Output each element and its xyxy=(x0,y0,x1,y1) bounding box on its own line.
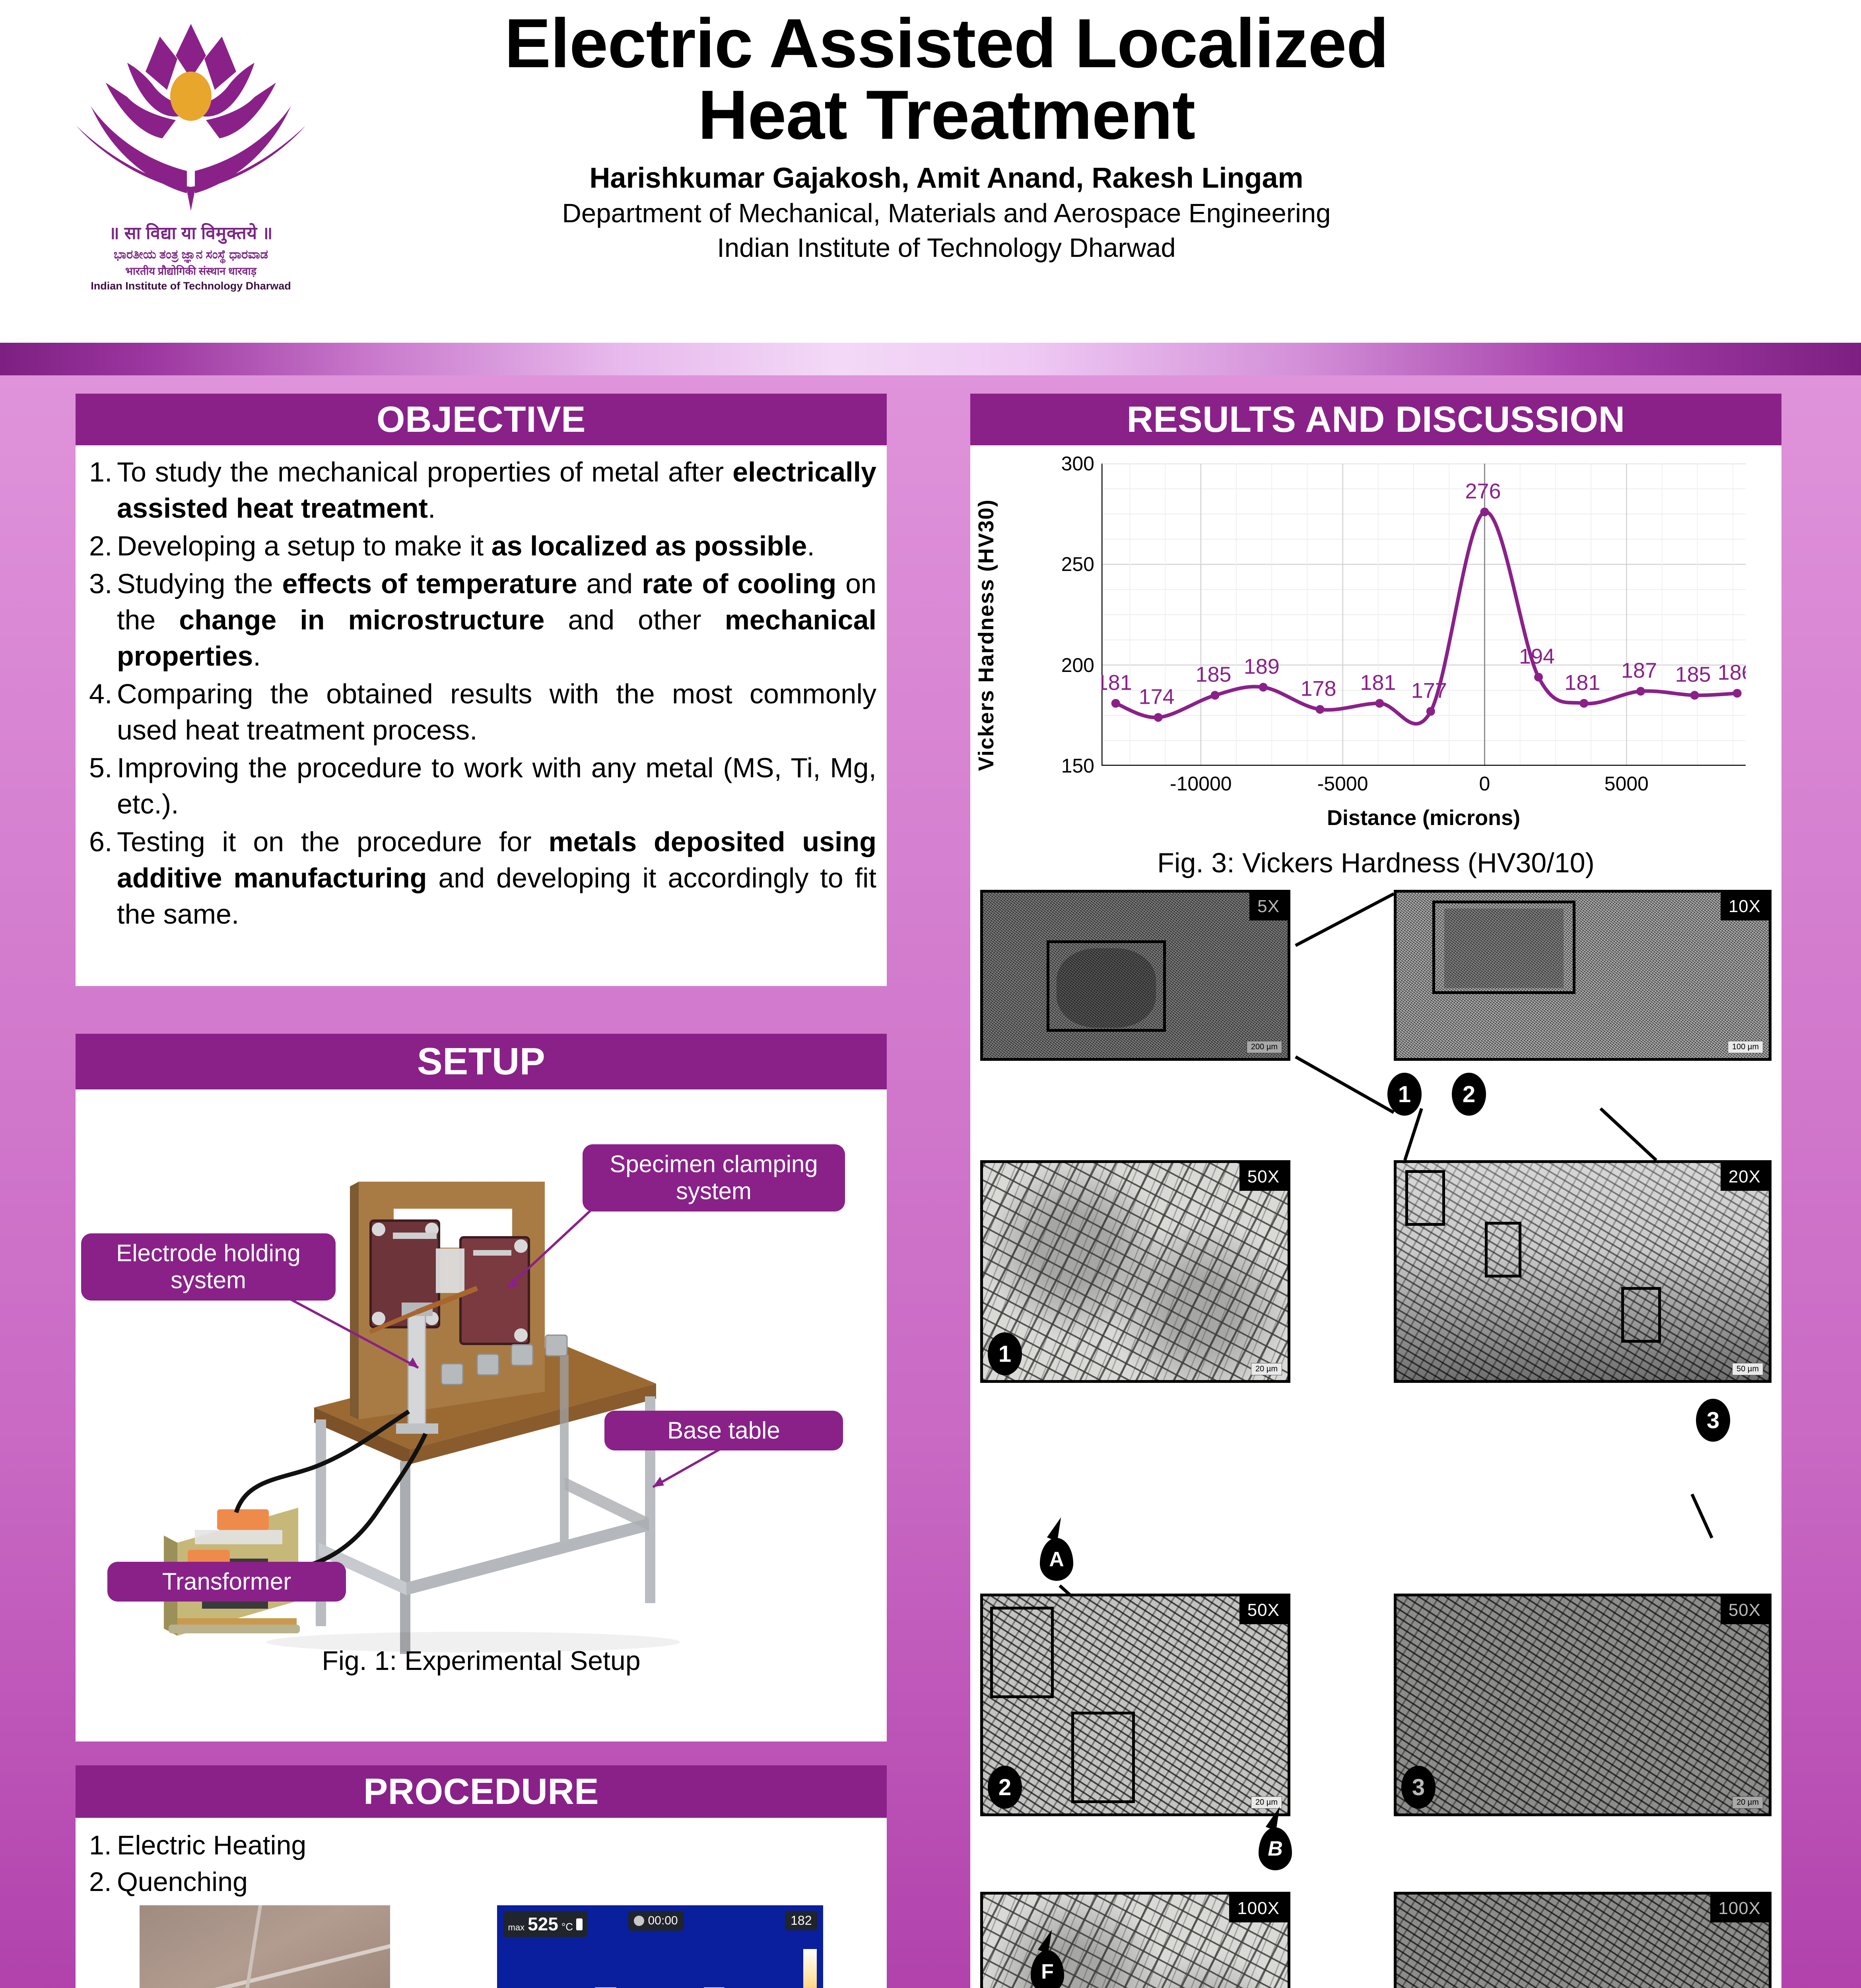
chart-point-label: 185 xyxy=(1195,663,1231,687)
logo-english-name: Indian Institute of Technology Dharwad xyxy=(52,280,330,292)
magnification-badge-100x-B: 100X xyxy=(1710,1895,1769,1922)
procedure-panel: PROCEDURE Electric HeatingQuenching Loca… xyxy=(76,1765,887,1988)
scale-bar-5x: 200 µm xyxy=(1247,1041,1282,1053)
magnification-badge-5x: 5X xyxy=(1249,893,1288,920)
chart-point-label: 276 xyxy=(1465,480,1501,503)
setup-panel: SETUP xyxy=(76,1034,887,1741)
chart-y-axis-label: Vickers Hardness (HV30) xyxy=(974,499,998,771)
procedure-heading: PROCEDURE xyxy=(76,1765,887,1818)
procedure-step-item: Quenching xyxy=(86,1864,876,1901)
objective-heading: OBJECTIVE xyxy=(76,394,887,445)
callout-base-table: Base table xyxy=(604,1411,843,1450)
chart-point-label: 187 xyxy=(1621,659,1657,683)
micrograph-10x: 10X 100 µm xyxy=(1394,890,1772,1061)
objective-list: To study the mechanical properties of me… xyxy=(86,454,876,932)
region-marker-1-top: 1 xyxy=(1387,1073,1422,1116)
title-block: Electric Assisted Localized Heat Treatme… xyxy=(358,8,1535,264)
phase-marker-F-A: F xyxy=(1031,1950,1064,1988)
scale-bar-20x: 50 µm xyxy=(1732,1363,1763,1375)
callout-transformer: Transformer xyxy=(107,1562,346,1602)
objective-item: Developing a setup to make it as localiz… xyxy=(86,528,876,564)
roi-box-A xyxy=(990,1607,1054,1698)
region-marker-2-top: 2 xyxy=(1452,1073,1486,1116)
scale-bar-10x: 100 µm xyxy=(1728,1041,1763,1053)
chart-y-tick: 250 xyxy=(1061,553,1094,576)
objective-item: To study the mechanical properties of me… xyxy=(86,454,876,526)
lotus-book-logo-icon xyxy=(68,12,314,219)
magnification-badge-20x: 20X xyxy=(1721,1163,1769,1191)
chart-y-tick: 300 xyxy=(1061,452,1094,475)
results-heading: RESULTS AND DISCUSSION xyxy=(970,394,1781,445)
objective-item: Improving the procedure to work with any… xyxy=(86,750,876,822)
chart-point-label: 181 xyxy=(1564,671,1600,695)
roi-box-20x-2 xyxy=(1485,1222,1521,1277)
chart-point-label: 185 xyxy=(1675,663,1711,687)
region-marker-3: 3 xyxy=(1401,1766,1436,1809)
logo-kannada-name: ಭಾರತೀಯ ತಂತ್ರ ಜ್ಞಾನ ಸಂಸ್ಥೆ ಧಾರವಾಡ xyxy=(52,247,330,262)
department-affiliation: Department of Mechanical, Materials and … xyxy=(358,198,1535,229)
figure-1-caption: Fig. 1: Experimental Setup xyxy=(76,1645,887,1676)
micrograph-50x-region1: 50X 1 20 µm xyxy=(980,1160,1290,1383)
chart-x-tick: 5000 xyxy=(1605,772,1649,795)
scale-bar-50x-1: 20 µm xyxy=(1251,1363,1282,1375)
procedure-image-localized-heating: Localized Heating xyxy=(140,1905,390,1988)
micrograph-20x: 20X 50 µm xyxy=(1394,1160,1772,1383)
procedure-image-temperature-profile: max 525 °C 00:00 182 150 FLIR xyxy=(497,1905,823,1988)
region-marker-A-pointer: A xyxy=(1040,1538,1073,1581)
micrograph-grid: 5X 200 µm 10X 100 µm 1 2 50X 1 20 µm 20X… xyxy=(980,886,1772,1988)
micrograph-100x-A: 100X F P A 10 µm xyxy=(980,1892,1290,1988)
chart-x-tick: 0 xyxy=(1479,772,1490,795)
callout-specimen-clamping-system: Specimen clamping system xyxy=(583,1144,845,1211)
chart-point-label: 181 xyxy=(1101,671,1132,695)
chart-point-label: 181 xyxy=(1360,671,1396,695)
chart-x-tick: -5000 xyxy=(1317,772,1368,795)
region-marker-3-top: 3 xyxy=(1696,1399,1730,1442)
poster-title-line1: Electric Assisted Localized xyxy=(358,8,1535,80)
chart-y-tick: 200 xyxy=(1061,654,1094,677)
chart-point-label: 178 xyxy=(1300,677,1336,701)
magnification-badge-50x-1: 50X xyxy=(1239,1163,1288,1191)
region-marker-1: 1 xyxy=(988,1332,1022,1375)
institute-logo: ॥ सा विद्या या विमुक्तये ॥ ಭಾರತೀಯ ತಂತ್ರ … xyxy=(52,12,330,330)
chart-point-label: 189 xyxy=(1244,654,1280,678)
procedure-step-list: Electric HeatingQuenching xyxy=(86,1827,876,1901)
vickers-hardness-chart: Vickers Hardness (HV30) 150200250300 181… xyxy=(982,448,1770,845)
setup-figure: Specimen clamping system Electrode holdi… xyxy=(76,1089,887,1686)
poster-header: ॥ सा विद्या या विमुक्तये ॥ ಭಾರತೀಯ ತಂತ್ರ … xyxy=(0,0,1861,350)
micrograph-50x-region3: 50X 3 20 µm xyxy=(1394,1594,1772,1816)
chart-point-label: 186 xyxy=(1718,661,1746,685)
thermal-roi-brackets xyxy=(497,1905,823,1988)
results-panel: RESULTS AND DISCUSSION Vickers Hardness … xyxy=(970,394,1781,1988)
institute-affiliation: Indian Institute of Technology Dharwad xyxy=(358,232,1535,264)
setup-heading: SETUP xyxy=(76,1034,887,1089)
chart-point-label: 174 xyxy=(1139,685,1175,709)
region-marker-2: 2 xyxy=(988,1766,1022,1809)
logo-hindi-name: भारतीय प्रौद्योगिकी संस्थान धारवाड़ xyxy=(52,263,330,278)
magnification-badge-50x-2: 50X xyxy=(1239,1596,1288,1624)
magnification-badge-10x: 10X xyxy=(1721,893,1769,920)
roi-box-5x xyxy=(1047,940,1166,1032)
roi-box-B xyxy=(1071,1712,1135,1803)
region-marker-B-pointer: B xyxy=(1259,1827,1292,1870)
figure-3-caption: Fig. 3: Vickers Hardness (HV30/10) xyxy=(970,847,1781,879)
magnification-badge-50x-3: 50X xyxy=(1721,1596,1769,1624)
chart-y-tick-labels: 150200250300 xyxy=(1046,464,1098,766)
poster-title-line2: Heat Treatment xyxy=(358,80,1535,151)
chart-x-tick: -10000 xyxy=(1170,772,1232,795)
roi-box-20x-3 xyxy=(1621,1287,1661,1343)
roi-box-20x-1 xyxy=(1405,1170,1445,1226)
objective-item: Comparing the obtained results with the … xyxy=(86,676,876,748)
callout-electrode-holding-system: Electrode holding system xyxy=(81,1233,336,1301)
header-gradient-divider xyxy=(0,343,1861,375)
chart-plot-area: 181174185189178181177276194181187185186 xyxy=(1101,464,1746,766)
chart-x-tick-labels: -10000-500005000 xyxy=(1101,772,1746,800)
objective-item: Studying the effects of temperature and … xyxy=(86,566,876,674)
scale-bar-50x-3: 20 µm xyxy=(1732,1796,1763,1809)
magnification-badge-100x-A: 100X xyxy=(1229,1895,1288,1922)
roi-box-10x xyxy=(1432,901,1575,994)
objective-panel: OBJECTIVE To study the mechanical proper… xyxy=(76,394,887,986)
procedure-step-item: Electric Heating xyxy=(86,1827,876,1864)
micrograph-5x: 5X 200 µm xyxy=(980,890,1290,1061)
objective-item: Testing it on the procedure for metals d… xyxy=(86,824,876,932)
logo-sanskrit-motto: ॥ सा विद्या या विमुक्तये ॥ xyxy=(52,220,330,244)
micrograph-100x-B: 100X F P B 10 µm xyxy=(1394,1892,1772,1988)
micrograph-50x-region2: 50X 2 20 µm xyxy=(980,1594,1290,1816)
procedure-image-row: Localized Heating max 525 °C 00:00 182 xyxy=(86,1905,876,1988)
chart-x-axis-label: Distance (microns) xyxy=(1101,806,1746,830)
chart-y-tick: 150 xyxy=(1061,754,1094,777)
chart-point-label: 177 xyxy=(1411,679,1447,703)
chart-point-label: 194 xyxy=(1519,645,1555,668)
author-list: Harishkumar Gajakosh, Amit Anand, Rakesh… xyxy=(358,162,1535,194)
poster-title: Electric Assisted Localized Heat Treatme… xyxy=(358,8,1535,151)
